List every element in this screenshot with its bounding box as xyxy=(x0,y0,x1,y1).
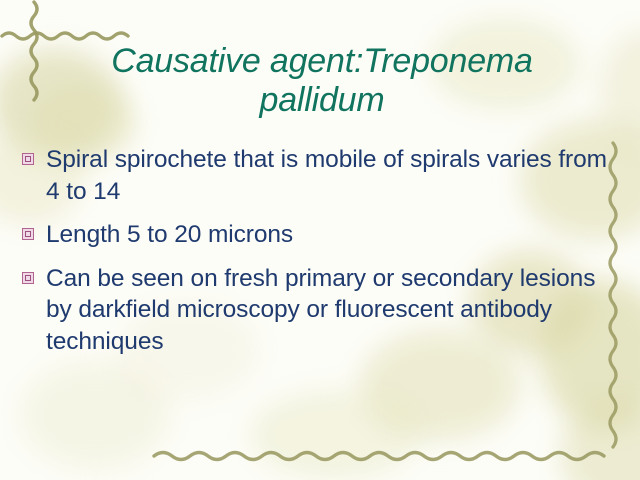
bullet-text: Spiral spirochete that is mobile of spir… xyxy=(46,144,612,207)
blotch-bottom-center xyxy=(250,390,420,480)
blotch-bottom-left xyxy=(20,360,170,470)
box-bullet-icon xyxy=(22,153,34,165)
blotch-bottom-right-corner xyxy=(560,400,640,480)
list-item: Length 5 to 20 microns xyxy=(22,219,612,251)
list-item: Spiral spirochete that is mobile of spir… xyxy=(22,144,612,207)
list-item: Can be seen on fresh primary or secondar… xyxy=(22,263,612,358)
bullet-text: Can be seen on fresh primary or secondar… xyxy=(46,263,612,358)
blotch-right-edge-top xyxy=(600,30,640,150)
box-bullet-icon xyxy=(22,228,34,240)
bottom-horizontal-squiggle xyxy=(150,444,628,468)
box-bullet-icon xyxy=(22,272,34,284)
bullet-text: Length 5 to 20 microns xyxy=(46,219,612,251)
bullet-list: Spiral spirochete that is mobile of spir… xyxy=(22,144,612,370)
slide-title: Causative agent:Treponema pallidum xyxy=(52,42,592,120)
slide-canvas: Causative agent:Treponema pallidum Spira… xyxy=(0,0,640,480)
slide-title-text: Causative agent:Treponema pallidum xyxy=(52,42,592,120)
